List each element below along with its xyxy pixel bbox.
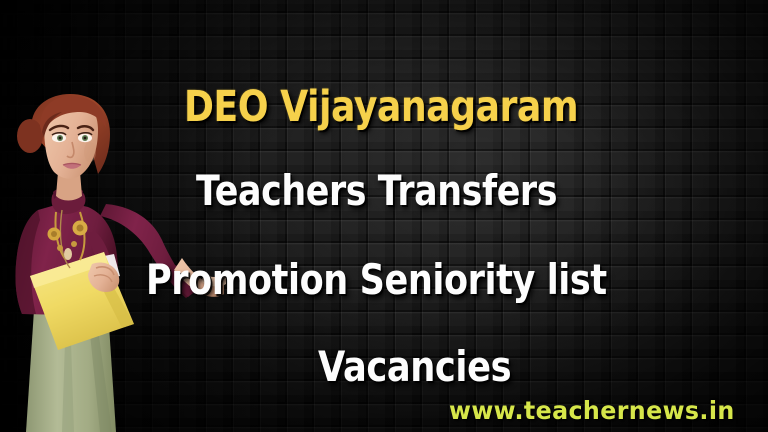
teacher-head bbox=[17, 94, 110, 179]
promo-banner: DEO Vijayanagaram Teachers Transfers Pro… bbox=[0, 0, 768, 432]
headline-line-vacancies: Vacancies bbox=[318, 344, 511, 389]
headline-primary: DEO Vijayanagaram bbox=[184, 84, 578, 130]
headline-line-teachers-transfers: Teachers Transfers bbox=[196, 168, 557, 213]
headline-line-promotion-seniority-list: Promotion Seniority list bbox=[146, 257, 607, 302]
teacher-hair-bun bbox=[17, 119, 43, 153]
website-url[interactable]: www.teachernews.in bbox=[449, 396, 735, 425]
